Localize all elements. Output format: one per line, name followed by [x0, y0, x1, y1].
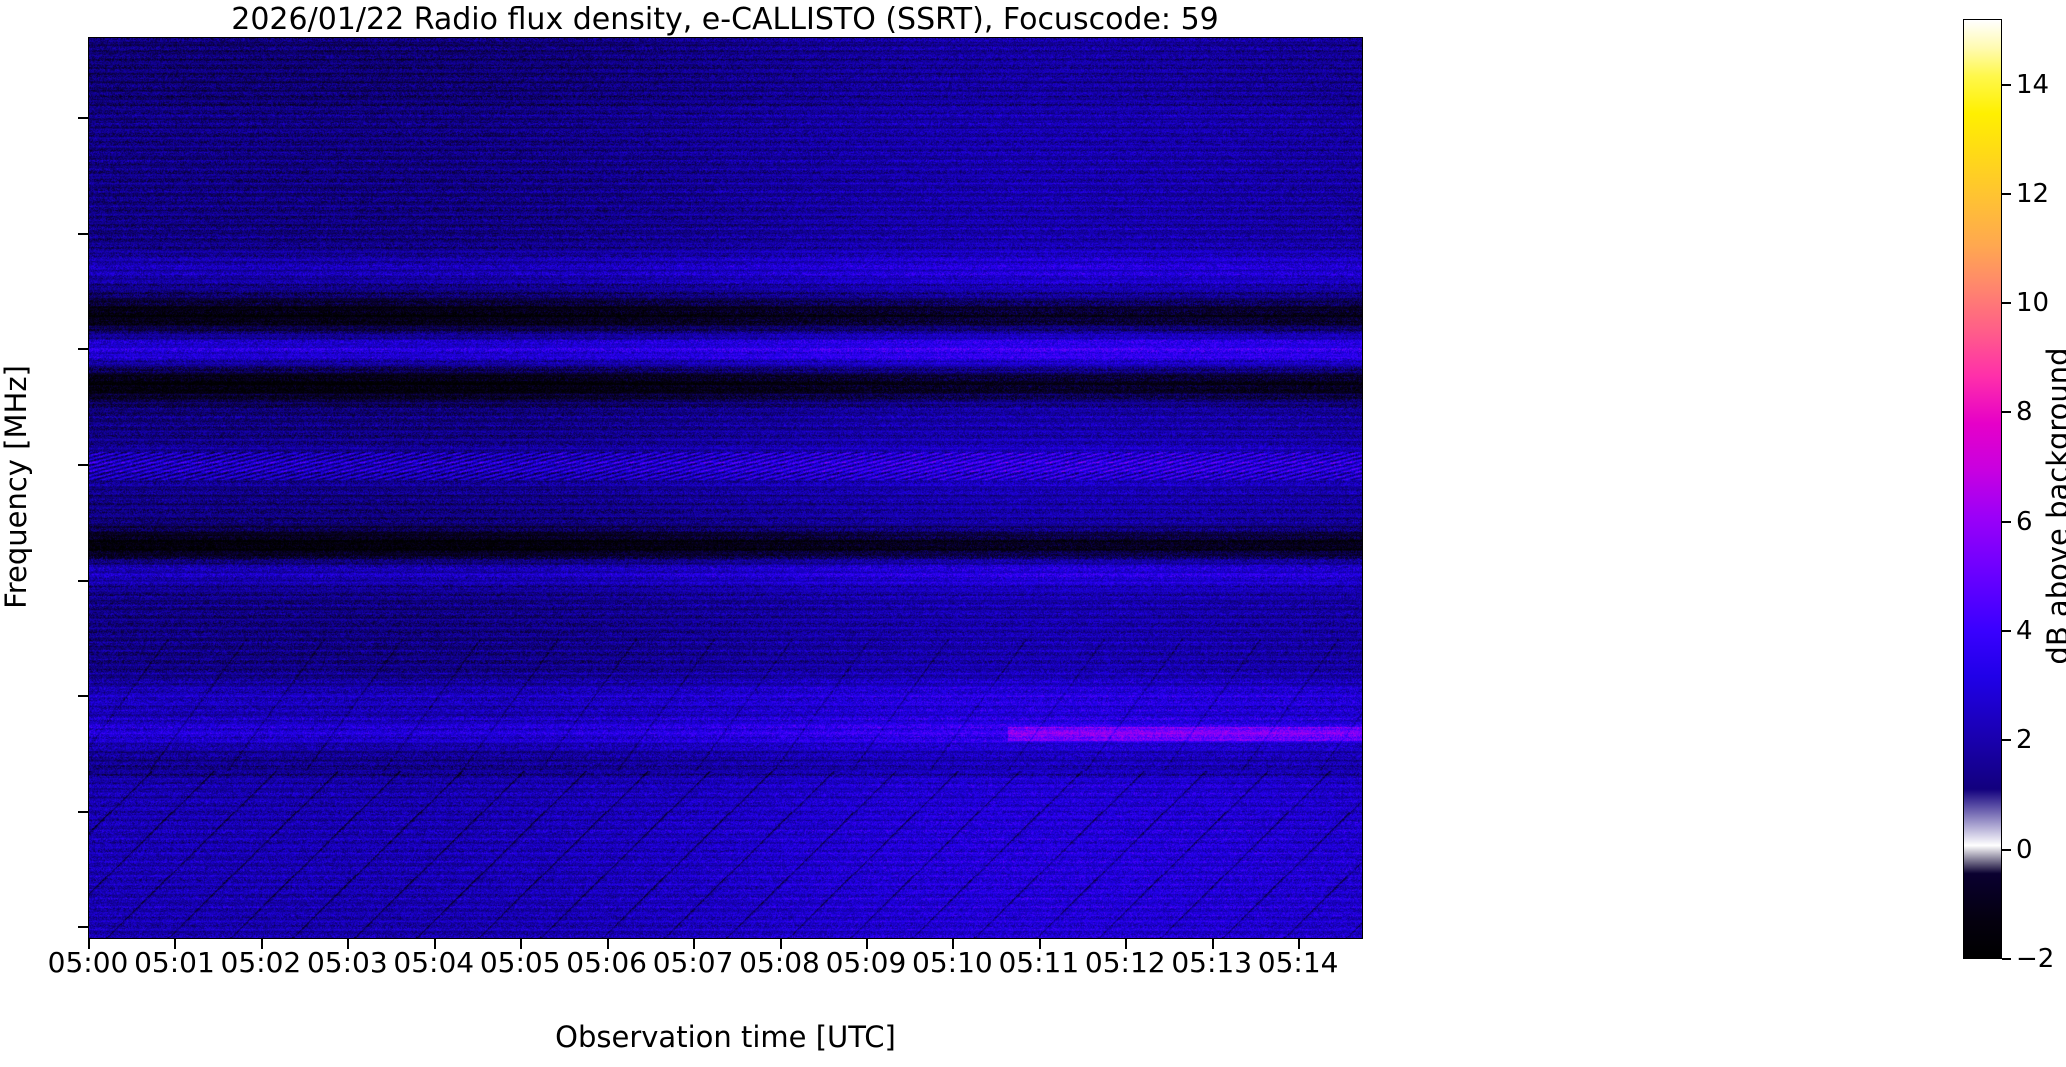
colorbar-tick-mark [2002, 630, 2011, 632]
colorbar-tick-mark [2002, 84, 2011, 86]
page-title: 2026/01/22 Radio flux density, e-CALLIST… [88, 2, 1362, 37]
colorbar-tick-label: 6 [2016, 507, 2033, 537]
y-tick-mark [78, 464, 88, 466]
colorbar-tick-mark [2002, 411, 2011, 413]
colorbar-tick-mark [2002, 193, 2011, 195]
colorbar-tick-mark [2002, 849, 2011, 851]
spectrogram-image[interactable] [89, 38, 1363, 939]
y-tick-mark [78, 695, 88, 697]
spectrogram-figure: 2026/01/22 Radio flux density, e-CALLIST… [0, 0, 2066, 1067]
colorbar-tick-mark [2002, 521, 2011, 523]
colorbar-gradient [1964, 20, 2001, 958]
y-axis-label: Frequency [MHz] [0, 36, 33, 938]
colorbar-tick-mark [2002, 739, 2011, 741]
x-tick-label: 05:14 [1218, 946, 1378, 979]
colorbar[interactable] [1963, 19, 2002, 959]
y-tick-mark [78, 117, 88, 119]
y-tick-mark [78, 926, 88, 928]
colorbar-label: dB above background [2041, 196, 2066, 816]
y-tick-mark [78, 348, 88, 350]
y-tick-mark [78, 811, 88, 813]
colorbar-tick-label: 14 [2016, 70, 2049, 100]
colorbar-tick-label: −2 [2016, 944, 2054, 974]
x-axis-label: Observation time [UTC] [88, 1020, 1363, 1054]
spectrogram-plot-area[interactable] [88, 37, 1363, 939]
colorbar-tick-label: 8 [2016, 397, 2033, 427]
colorbar-tick-label: 0 [2016, 835, 2033, 865]
colorbar-tick-mark [2002, 958, 2011, 960]
y-tick-mark [78, 233, 88, 235]
colorbar-tick-label: 2 [2016, 725, 2033, 755]
colorbar-tick-label: 4 [2016, 616, 2033, 646]
colorbar-tick-mark [2002, 302, 2011, 304]
y-tick-mark [78, 580, 88, 582]
